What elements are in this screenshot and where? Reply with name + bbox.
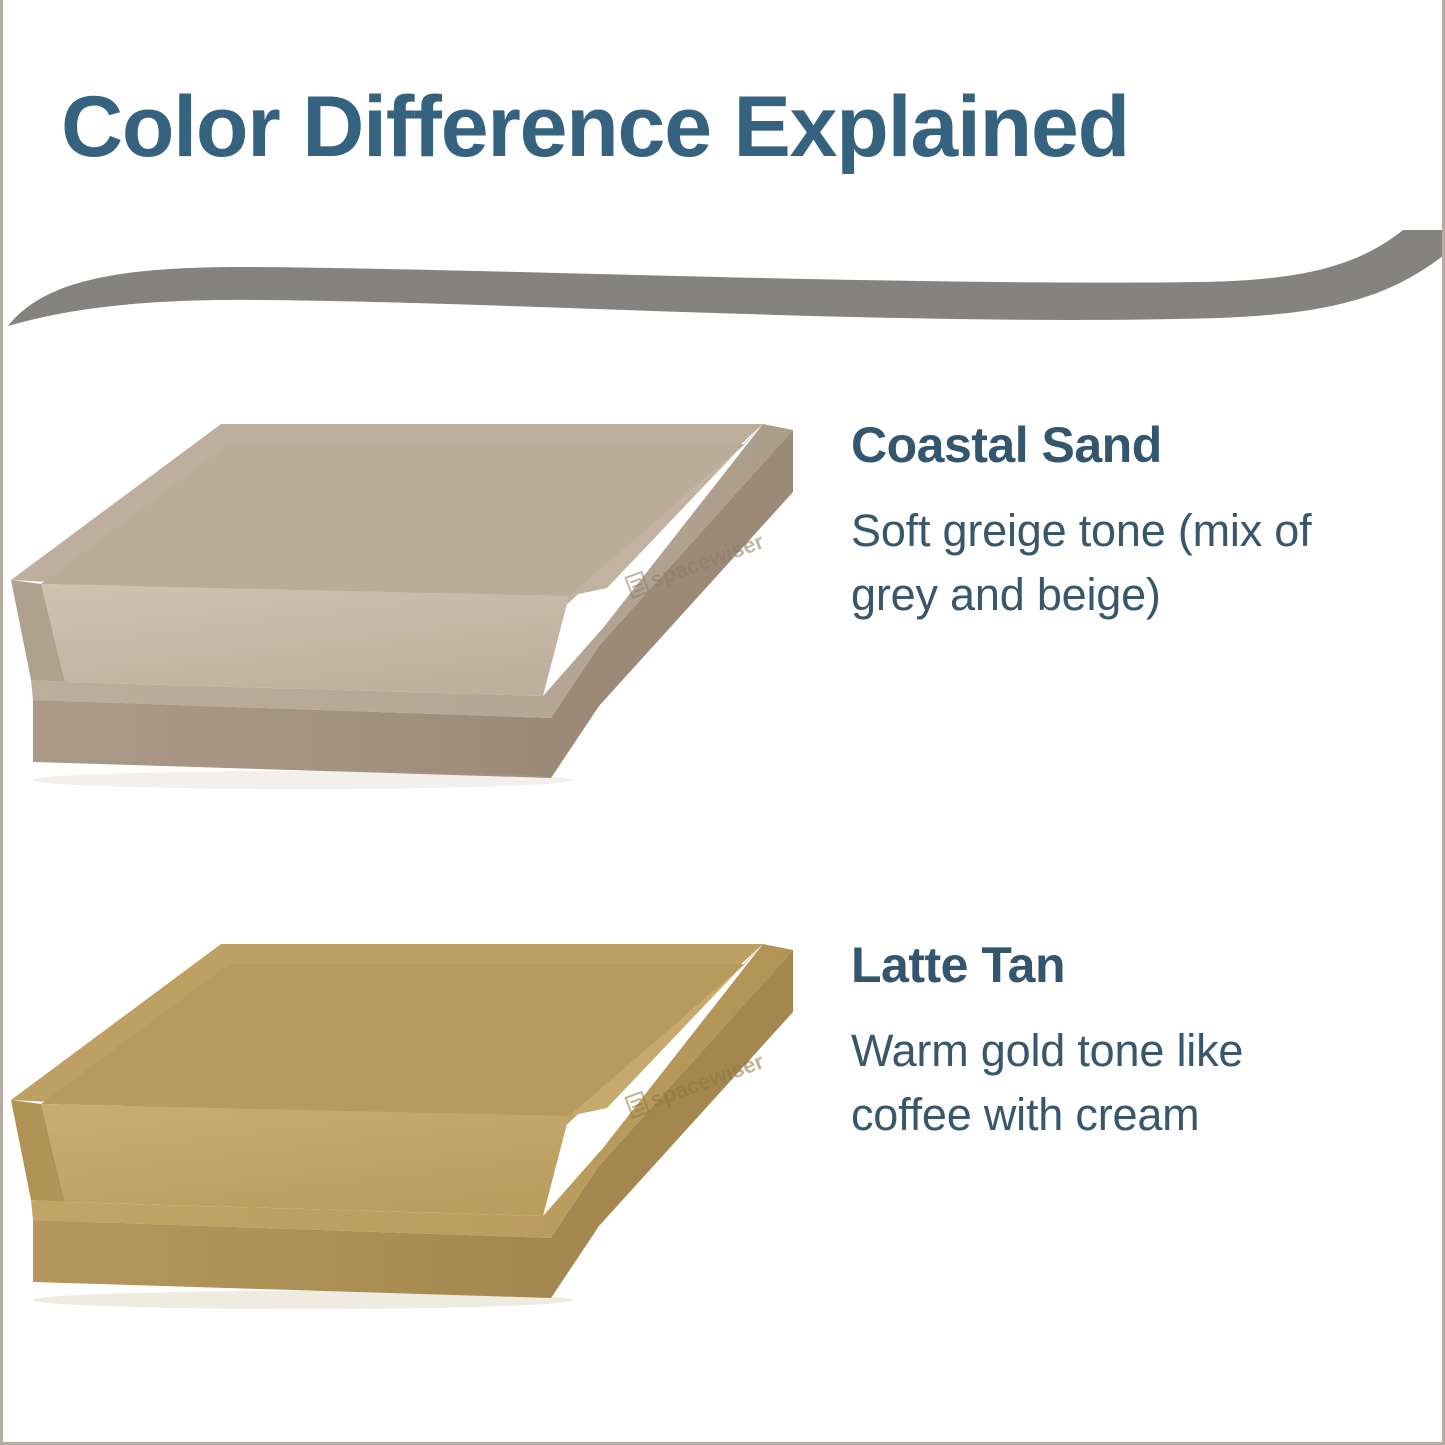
tray-interior-floor: [41, 584, 569, 696]
product-name-coastal-sand: Coastal Sand: [851, 418, 1445, 473]
product-row-coastal-sand: spacewiser Coastal Sand Soft greige tone…: [3, 400, 1445, 860]
decorative-swoosh-icon: [3, 230, 1445, 360]
header: Color Difference Explained: [3, 0, 1445, 360]
product-image-coastal-sand: spacewiser: [3, 400, 833, 830]
coastal-sand-tray-illustration: spacewiser: [3, 400, 833, 830]
tray-interior-floor: [41, 1104, 569, 1216]
page-title: Color Difference Explained: [61, 82, 1129, 172]
product-description-latte-tan: Warm gold tone like coffee with cream: [851, 1019, 1321, 1147]
product-text-latte-tan: Latte Tan Warm gold tone like coffee wit…: [833, 920, 1445, 1147]
product-description-coastal-sand: Soft greige tone (mix of grey and beige): [851, 499, 1321, 627]
infographic-page: Color Difference Explained: [0, 0, 1445, 1445]
product-name-latte-tan: Latte Tan: [851, 938, 1445, 993]
latte-tan-tray-illustration: spacewiser: [3, 920, 833, 1350]
product-row-latte-tan: spacewiser Latte Tan Warm gold tone like…: [3, 920, 1445, 1380]
product-image-latte-tan: spacewiser: [3, 920, 833, 1350]
product-text-coastal-sand: Coastal Sand Soft greige tone (mix of gr…: [833, 400, 1445, 627]
tray-drop-shadow: [33, 771, 573, 789]
tray-drop-shadow: [33, 1291, 573, 1309]
